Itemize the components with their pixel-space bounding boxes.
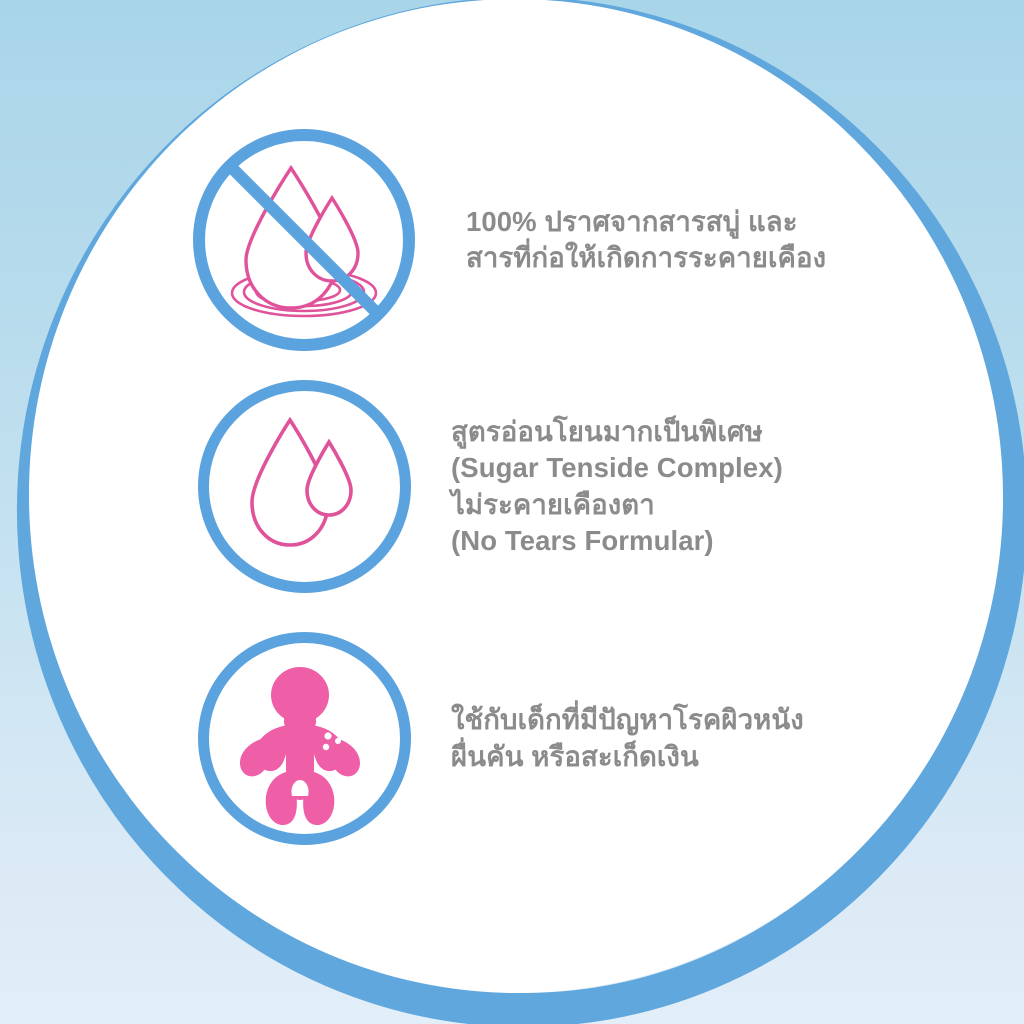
feature-text-block: สูตรอ่อนโยนมากเป็นพิเศษ (Sugar Tenside C… — [451, 414, 783, 559]
feature-row: ใช้กับเด็กที่มีปัญหาโรคผิวหนัง ผื่นคัน ห… — [196, 630, 804, 847]
no-soap-droplet-icon — [190, 126, 418, 354]
feature-text-line: (Sugar Tenside Complex) — [451, 450, 783, 486]
feature-text-block: 100% ปราศจากสารสบู่ และ สารที่ก่อให้เกิด… — [466, 204, 826, 277]
feature-text-line: สูตรอ่อนโยนมากเป็นพิเศษ — [451, 414, 783, 450]
feature-text-line: ไม่ระคายเคืองตา — [451, 487, 783, 523]
baby-icon — [196, 630, 413, 847]
no-soap-droplet-svg — [190, 126, 418, 354]
feature-text-line: ผื่นคัน หรือสะเก็ดเงิน — [451, 739, 804, 775]
feature-text-line: (No Tears Formular) — [451, 523, 783, 559]
feature-row: 100% ปราศจากสารสบู่ และ สารที่ก่อให้เกิด… — [190, 126, 826, 354]
droplet-small-outline — [307, 442, 351, 515]
baby-silhouette — [240, 667, 360, 825]
feature-row: สูตรอ่อนโยนมากเป็นพิเศษ (Sugar Tenside C… — [196, 378, 783, 595]
feature-text-block: ใช้กับเด็กที่มีปัญหาโรคผิวหนัง ผื่นคัน ห… — [451, 702, 804, 775]
feature-list: 100% ปราศจากสารสบู่ และ สารที่ก่อให้เกิด… — [0, 0, 1024, 1024]
feature-text-line: ใช้กับเด็กที่มีปัญหาโรคผิวหนัง — [451, 702, 804, 738]
promo-graphic: 100% ปราศจากสารสบู่ และ สารที่ก่อให้เกิด… — [0, 0, 1024, 1024]
gentle-droplets-svg — [196, 378, 413, 595]
baby-svg — [196, 630, 413, 847]
feature-text-line: สารที่ก่อให้เกิดการระคายเคือง — [466, 240, 826, 276]
feature-text-line: 100% ปราศจากสารสบู่ และ — [466, 204, 826, 240]
gentle-droplets-icon — [196, 378, 413, 595]
